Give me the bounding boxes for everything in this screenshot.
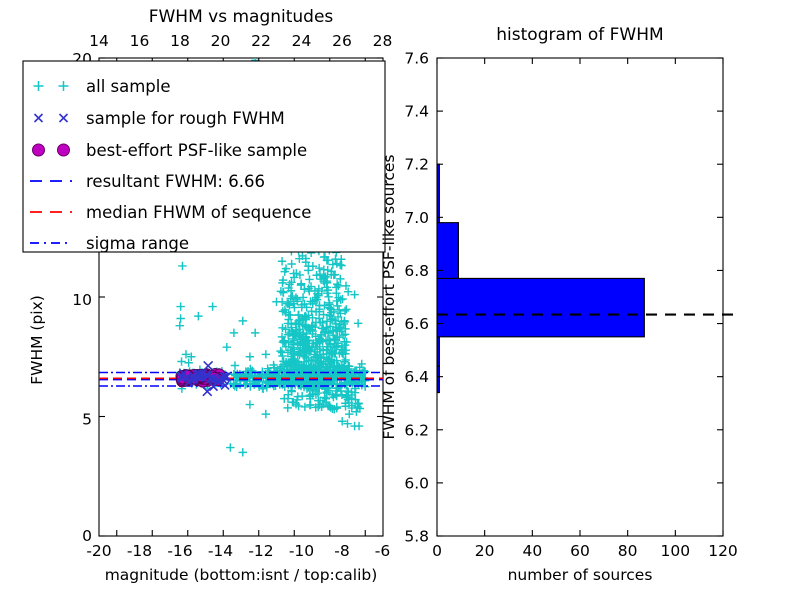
right-bottom-ticks [437,530,723,536]
tick-label: 5 [82,411,92,429]
tick-label: 6.8 [404,262,429,280]
tick-label: -8 [334,542,349,560]
tick-label: 100 [661,542,691,560]
tick-label: 120 [708,542,738,560]
legend-label: best-effort PSF-like sample [86,141,307,160]
tick-label: 6.4 [404,368,429,386]
histogram-bar [437,337,439,366]
left-bottom-tick-labels: -20 -18 -16 -14 -12 -10 -8 -6 [86,542,390,560]
histogram-bar [437,164,439,222]
right-top-ticks [437,58,723,64]
tick-label: 14 [89,32,109,50]
histogram-bar [437,278,644,336]
legend-label: median FHWM of sequence [86,203,311,222]
right-panel-ylabel: FWHM of best-effort PSF-like sources [380,154,398,439]
legend-label: resultant FWHM: 6.66 [86,172,265,191]
histogram-bars [437,164,644,392]
tick-label: 6.0 [404,474,429,492]
tick-label: 6.6 [404,315,429,333]
tick-label: 0 [432,542,442,560]
tick-label: 7.6 [404,50,429,68]
tick-label: 10 [72,291,92,309]
right-panel: 020406080100120 5.86.06.26.46.66.87.07.2… [380,25,738,584]
rough-sample-points [177,361,230,395]
tick-label: 7.4 [404,103,429,121]
tick-label: 7.0 [404,209,429,227]
legend-label: sample for rough FWHM [86,109,285,128]
tick-label: -16 [167,542,192,560]
tick-label: 18 [170,32,190,50]
legend-label: sigma range [86,234,189,253]
tick-label: -6 [375,542,390,560]
tick-label: 60 [570,542,590,560]
tick-label: 20 [211,32,231,50]
tick-label: 80 [618,542,638,560]
tick-label: 16 [130,32,150,50]
tick-label: 40 [522,542,542,560]
legend-label: all sample [86,77,171,96]
left-top-tick-labels: 14 16 18 20 22 24 26 28 [89,32,392,50]
tick-label: 0 [82,527,92,545]
matplotlib-figure: -20 -18 -16 -14 -12 -10 -8 -6 14 16 18 2… [0,0,800,600]
tick-label: 28 [373,32,393,50]
legend[interactable]: all sample sample for rough FWHM best-ef… [23,61,385,253]
tick-label: 7.2 [404,156,429,174]
tick-label: -18 [127,542,152,560]
histogram-bar [437,366,439,393]
tick-label: 26 [332,32,352,50]
right-x-tick-labels: 020406080100120 [432,542,738,560]
tick-label: 24 [292,32,312,50]
tick-label: 20 [475,542,495,560]
right-panel-title: histogram of FWHM [496,25,663,45]
right-right-ticks [717,58,723,536]
figure-canvas: -20 -18 -16 -14 -12 -10 -8 -6 14 16 18 2… [0,0,800,600]
tick-label: -14 [208,542,233,560]
tick-label: 6.2 [404,421,429,439]
right-panel-xlabel: number of sources [508,566,653,584]
tick-label: -10 [289,542,314,560]
left-bottom-ticks [117,530,366,536]
tick-label: -12 [248,542,273,560]
tick-label: 22 [251,32,271,50]
left-panel-xlabel: magnitude (bottom:isnt / top:calib) [105,566,378,584]
left-panel-title: FWHM vs magnitudes [149,7,334,27]
left-panel-ylabel: FWHM (pix) [28,295,46,385]
right-y-tick-labels: 5.86.06.26.46.66.87.07.27.47.6 [404,50,429,546]
tick-label: 5.8 [404,528,429,546]
